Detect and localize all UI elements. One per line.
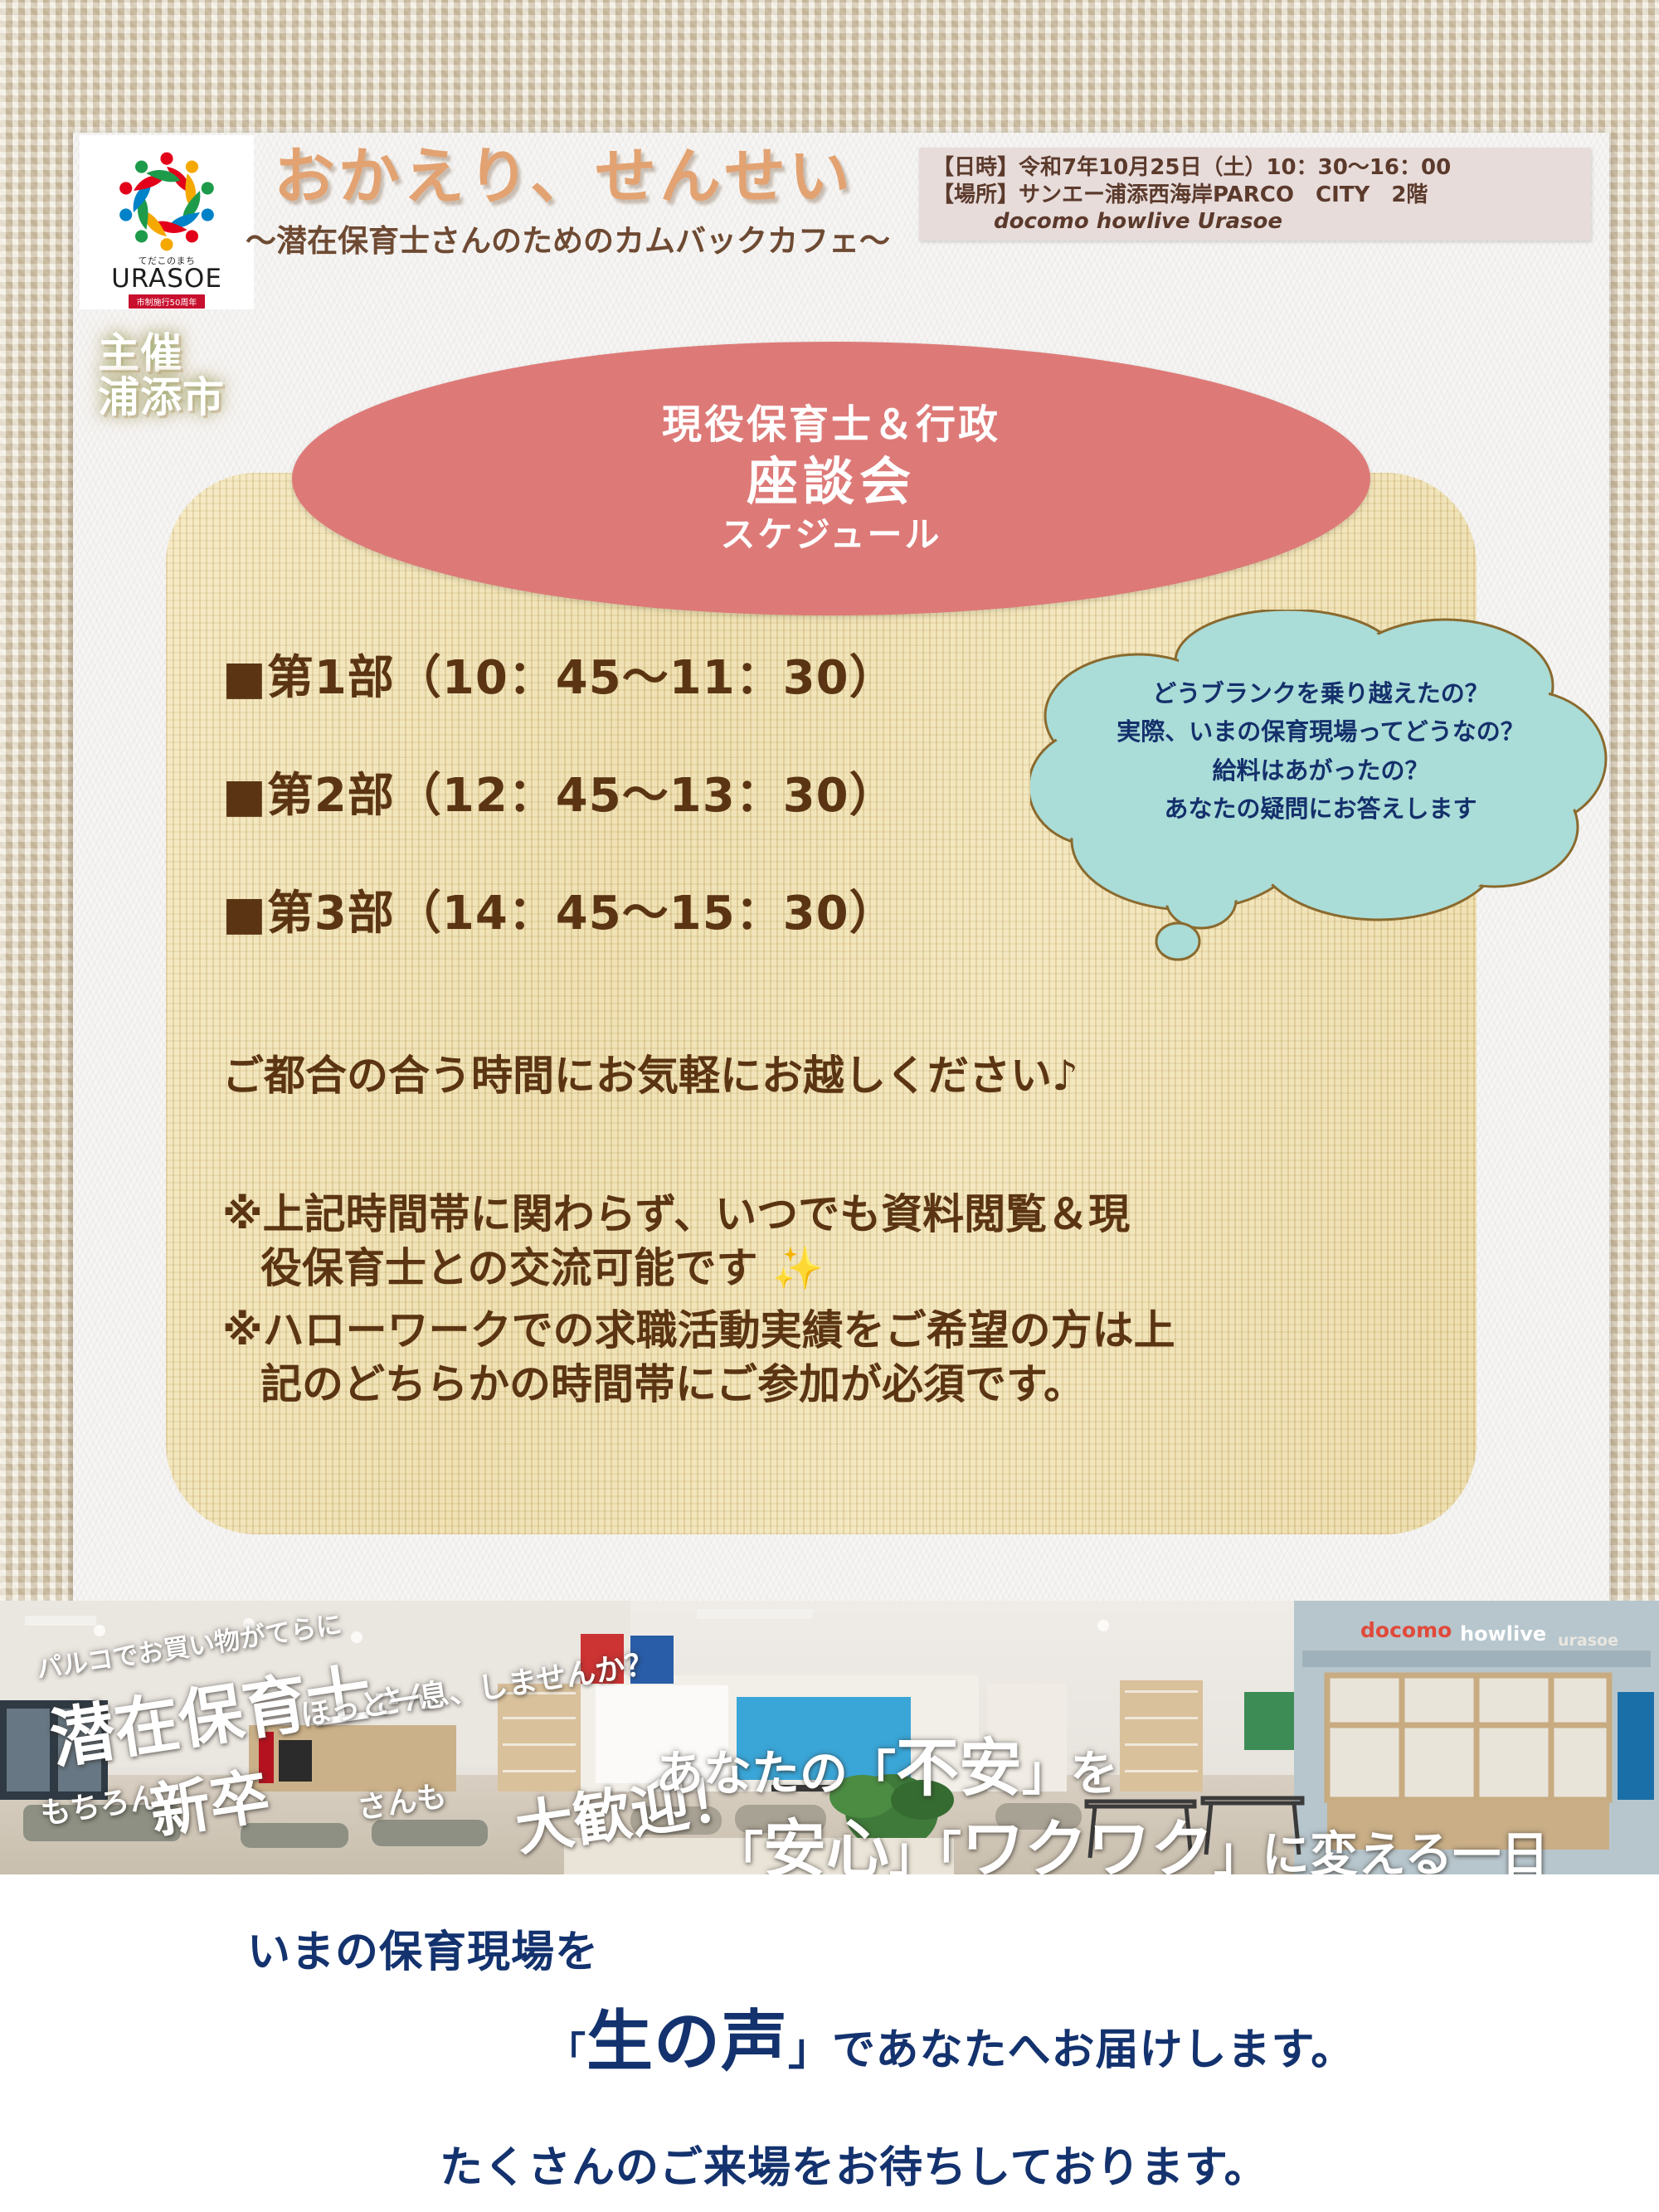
overlay-r2-c: 」に変える一日 — [1214, 1826, 1549, 1874]
host-label-line1: 主催 — [98, 332, 347, 376]
overlay-r2-b: 」「 — [889, 1826, 961, 1874]
bubble-line-3: 給料はあがったの？ — [1047, 751, 1594, 790]
notes-list: ※上記時間帯に関わらず、いつでも資料閲覧＆現 役保育士との交流可能です ✨ ※ハ… — [222, 1188, 1442, 1420]
free-attendance-line: ご都合の合う時間にお気軽にお越しください♪ — [222, 1055, 1417, 1096]
schedule-item-1: ■第1部（10：45〜11：30） — [222, 655, 1052, 702]
thought-bubble-text: どうブランクを乗り越えたの？ 実際、いまの保育現場ってどうなの？ 給料はあがった… — [1047, 674, 1594, 829]
poster-root: てだこのまち URASOE 市制施行50周年 おかえり、せんせい 〜潜在保育士さ… — [0, 0, 1659, 2212]
ellipse-line-2: 座談会 — [747, 455, 916, 508]
overlay-r1-a: あなたの「 — [655, 1745, 896, 1801]
overlay-r2-a: 「 — [715, 1826, 763, 1874]
bubble-line-4: あなたの疑問にお答えします — [1047, 790, 1594, 828]
schedule-item-3: ■第3部（14：45〜15：30） — [222, 891, 1052, 937]
poster-subtitle: 〜潜在保育士さんのためのカムバックカフェ〜 — [246, 226, 926, 256]
photo-overlay-right-2: 「安心」「ワクワク」に変える一日 — [715, 1798, 1549, 1874]
photo-overlay-right-1: あなたの「不安」を — [655, 1717, 1118, 1808]
schedule-title-ellipse: 現役保育士＆行政 座談会 スケジュール — [292, 342, 1370, 615]
host-label: 主催 浦添市 — [98, 332, 347, 419]
note-1-line-2: 役保育士との交流可能です ✨ — [222, 1242, 1442, 1296]
overlay-r2-big1: 安心 — [763, 1812, 889, 1874]
note-1-line-1: ※上記時間帯に関わらず、いつでも資料閲覧＆現 — [222, 1190, 1130, 1238]
closing-message-section: いまの保育現場を 「生の声」であなたへお届けします。 たくさんのご来場をお待ちし… — [0, 1883, 1659, 2212]
poster-title: おかえり、せんせい — [274, 146, 888, 207]
event-venue: 【場所】サンエー浦添西海岸PARCO CITY 2階 — [932, 182, 1578, 209]
note-2-line-2: 記のどちらかの時間帯にご参加が必須です。 — [222, 1358, 1442, 1412]
svg-text:urasoe: urasoe — [1558, 1631, 1618, 1650]
ellipse-line-3: スケジュール — [720, 518, 941, 552]
venue-photo-band: docomo howlive urasoe — [0, 1601, 1659, 1874]
svg-text:docomo: docomo — [1360, 1618, 1452, 1642]
photo-overlay-e: 新卒 — [144, 1747, 275, 1850]
logo-anniversary-badge: 市制施行50周年 — [129, 294, 206, 309]
event-info-box: 【日時】令和7年10月25日（土）10：30〜16：00 【場所】サンエー浦添西… — [919, 148, 1591, 241]
closing-line-3: たくさんのご来場をお待ちしております。 — [440, 2146, 1268, 2190]
ellipse-line-1: 現役保育士＆行政 — [662, 405, 1000, 445]
closing-line-2: 「生の声」であなたへお届けします。 — [547, 2009, 1355, 2075]
overlay-r2-big2: ワクワク — [961, 1812, 1214, 1874]
host-label-line2: 浦添市 — [98, 376, 347, 420]
thought-bubble: どうブランクを乗り越えたの？ 実際、いまの保育現場ってどうなの？ 給料はあがった… — [1030, 610, 1611, 991]
schedule-item-2: ■第2部（12：45〜13：30） — [222, 773, 1052, 819]
note-2-line-1: ※ハローワークでの求職活動実績をご希望の方は上 — [222, 1306, 1175, 1354]
schedule-list: ■第1部（10：45〜11：30） ■第2部（12：45〜13：30） ■第3部… — [222, 655, 1052, 1009]
event-datetime: 【日時】令和7年10月25日（土）10：30〜16：00 — [932, 154, 1578, 182]
svg-text:howlive: howlive — [1460, 1622, 1546, 1646]
overlay-r1-b: 」を — [1022, 1745, 1118, 1801]
closing-quote-open: 「 — [547, 2029, 586, 2073]
urasoe-pinwheel-people-icon — [109, 143, 225, 260]
logo-wordmark: URASOE — [111, 266, 222, 292]
urasoe-logo-box: てだこのまち URASOE 市制施行50周年 — [80, 135, 254, 309]
closing-emphasis: 生の声 — [586, 2003, 788, 2080]
closing-line-2-rest: 」であなたへお届けします。 — [788, 2025, 1355, 2075]
overlay-r1-big: 不安 — [896, 1731, 1022, 1805]
note-2: ※ハローワークでの求職活動実績をご希望の方は上 記のどちらかの時間帯にご参加が必… — [222, 1304, 1442, 1412]
bubble-line-1: どうブランクを乗り越えたの？ — [1047, 674, 1594, 712]
bubble-line-2: 実際、いまの保育現場ってどうなの？ — [1047, 712, 1594, 751]
note-1: ※上記時間帯に関わらず、いつでも資料閲覧＆現 役保育士との交流可能です ✨ — [222, 1188, 1442, 1296]
event-venue-sub: docomo howlive Urasoe — [932, 208, 1578, 236]
closing-line-1: いまの保育現場を — [247, 1931, 599, 1974]
